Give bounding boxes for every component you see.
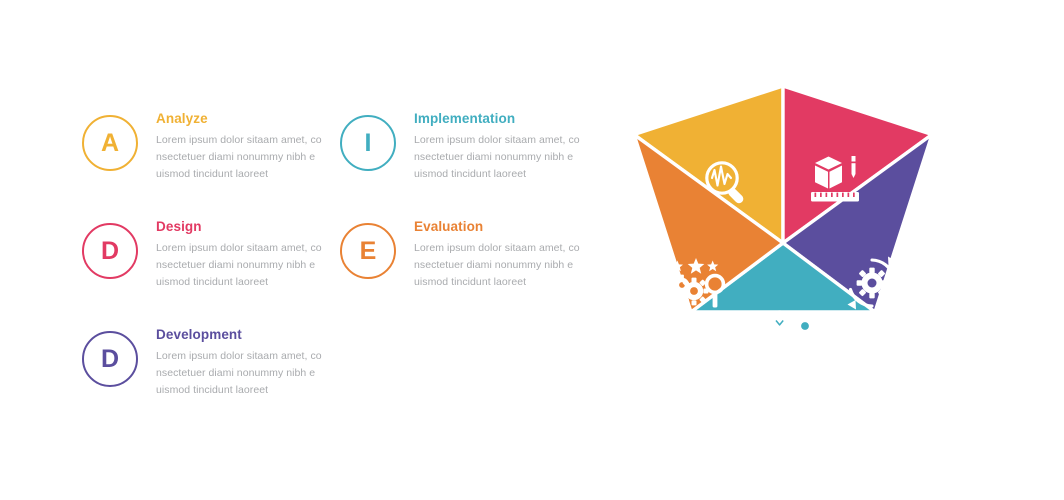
badge-analyze: A xyxy=(82,115,138,171)
list-item-description: Lorem ipsum dolor sitaam amet, co nsecte… xyxy=(156,240,322,291)
pentagon-diagram xyxy=(600,70,972,426)
badge-development: D xyxy=(82,331,138,387)
list-item-title: Development xyxy=(156,327,344,343)
list-item-description: Lorem ipsum dolor sitaam amet, co nsecte… xyxy=(414,132,580,183)
badge-letter: D xyxy=(101,239,119,264)
list-item-description: Lorem ipsum dolor sitaam amet, co nsecte… xyxy=(156,348,322,399)
list-item-text: Implementation Lorem ipsum dolor sitaam … xyxy=(396,102,602,183)
badge-letter: E xyxy=(360,239,377,264)
pentagon-chart-svg xyxy=(600,70,972,426)
list-item[interactable]: E Evaluation Lorem ipsum dolor sitaam am… xyxy=(340,210,602,318)
list-item-text: Evaluation Lorem ipsum dolor sitaam amet… xyxy=(396,210,602,291)
list-item-description: Lorem ipsum dolor sitaam amet, co nsecte… xyxy=(156,132,322,183)
list-item-text: Analyze Lorem ipsum dolor sitaam amet, c… xyxy=(138,102,344,183)
badge-letter: I xyxy=(365,131,372,156)
legend-column-left: A Analyze Lorem ipsum dolor sitaam amet,… xyxy=(82,102,344,426)
list-item-text: Development Lorem ipsum dolor sitaam ame… xyxy=(138,318,344,399)
badge-letter: D xyxy=(101,347,119,372)
list-item[interactable]: A Analyze Lorem ipsum dolor sitaam amet,… xyxy=(82,102,344,210)
list-item-title: Analyze xyxy=(156,111,344,127)
badge-letter: A xyxy=(101,131,119,156)
list-item-description: Lorem ipsum dolor sitaam amet, co nsecte… xyxy=(414,240,580,291)
badge-design: D xyxy=(82,223,138,279)
infographic-canvas: A Analyze Lorem ipsum dolor sitaam amet,… xyxy=(0,0,1064,500)
list-item-title: Implementation xyxy=(414,111,602,127)
badge-implementation: I xyxy=(340,115,396,171)
list-item[interactable]: D Development Lorem ipsum dolor sitaam a… xyxy=(82,318,344,426)
list-item[interactable]: D Design Lorem ipsum dolor sitaam amet, … xyxy=(82,210,344,318)
list-item-title: Design xyxy=(156,219,344,235)
list-item-title: Evaluation xyxy=(414,219,602,235)
badge-evaluation: E xyxy=(340,223,396,279)
list-item-text: Design Lorem ipsum dolor sitaam amet, co… xyxy=(138,210,344,291)
list-item[interactable]: I Implementation Lorem ipsum dolor sitaa… xyxy=(340,102,602,210)
pentagon-slices xyxy=(634,86,932,312)
bulb-gear-icon xyxy=(770,310,819,357)
legend-column-right: I Implementation Lorem ipsum dolor sitaa… xyxy=(340,102,602,318)
